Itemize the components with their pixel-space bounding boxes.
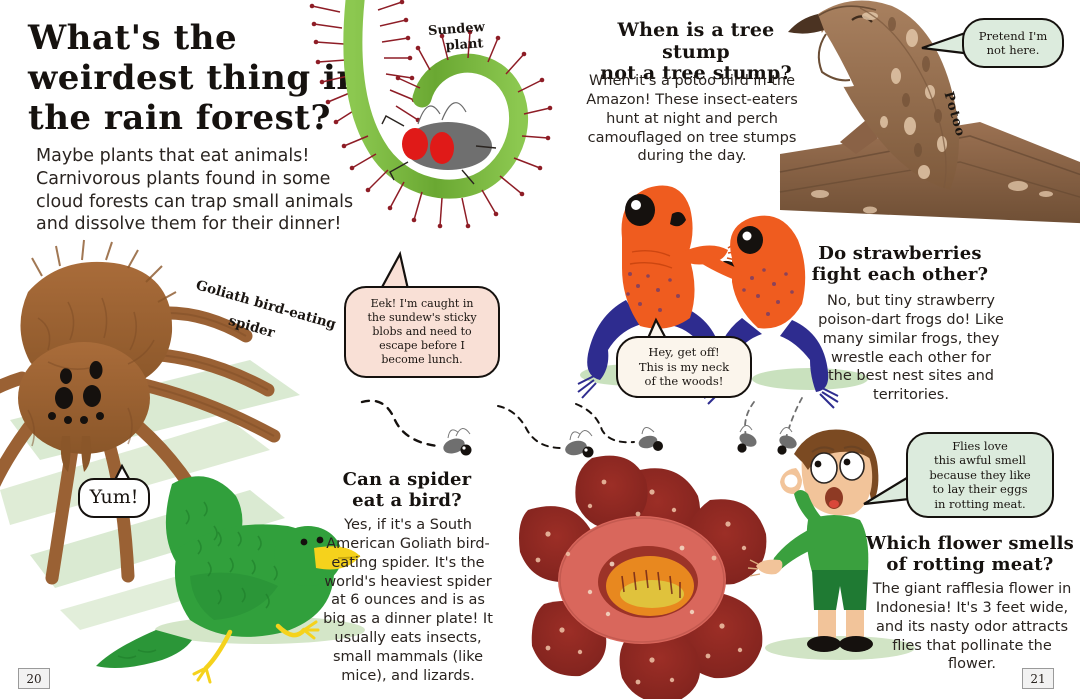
boy-bubble-line1: Flies love <box>929 439 1030 453</box>
fly-bubble-line1: Eek! I'm caught in <box>367 297 476 311</box>
page-number-left: 20 <box>18 668 50 689</box>
frog-speech-bubble: Hey, get off! This is my neck of the woo… <box>616 336 752 398</box>
strawberries-heading-line1: Do strawberries <box>800 244 1000 265</box>
book-spread: What's the weirdest thing in the rain fo… <box>0 0 1080 699</box>
potoo-bubble-line2: not here. <box>979 43 1048 57</box>
tree-stump-heading-line1: When is a tree stump <box>596 20 796 63</box>
rotting-flower-heading: Which flower smells of rotting meat? <box>866 534 1074 575</box>
boy-bubble-line4: to lay their eggs <box>929 482 1030 496</box>
tree-stump-body: When it's a potoo bird in the Amazon! Th… <box>576 72 808 166</box>
boy-bubble-line2: this awful smell <box>929 453 1030 467</box>
fly-icon <box>637 427 663 451</box>
spider-bird-body: Yes, if it's a South American Goliath bi… <box>318 516 498 686</box>
goliath-spider-label: Goliath bird-eating spider <box>196 276 356 321</box>
page-number-right: 21 <box>1022 668 1054 689</box>
strawberries-heading-line2: fight each other? <box>800 265 1000 286</box>
fly-bubble-line2: the sundew's sticky <box>367 311 476 325</box>
boy-speech-bubble: Flies love this awful smell because they… <box>906 432 1054 518</box>
potoo-bubble-line1: Pretend I'm <box>979 29 1048 43</box>
boy-bubble-line5: in rotting meat. <box>929 497 1030 511</box>
rotting-flower-heading-line1: Which flower smells <box>866 534 1074 555</box>
rotting-flower-heading-line2: of rotting meat? <box>866 555 1074 576</box>
fly-bubble-line3: blobs and need to <box>367 325 476 339</box>
frog-bubble-line1: Hey, get off! <box>639 345 729 359</box>
sundew-plant-label: Sundew plant <box>411 19 503 56</box>
frog-bubble-line2: This is my neck <box>639 360 729 374</box>
rotting-flower-body: The giant rafflesia flower in Indonesia!… <box>872 580 1072 674</box>
fly-bubble-line4: escape before I <box>367 339 476 353</box>
frog-bubble-line3: of the woods! <box>639 374 729 388</box>
fly-icon <box>737 425 758 452</box>
strawberries-heading: Do strawberries fight each other? <box>800 244 1000 285</box>
boy-bubble-line3: because they like <box>929 468 1030 482</box>
potoo-speech-bubble: Pretend I'm not here. <box>962 18 1064 68</box>
strawberries-body: No, but tiny strawberry poison-dart frog… <box>818 292 1004 405</box>
rafflesia-flower-illustration <box>482 452 782 699</box>
spider-bird-heading-line2: eat a bird? <box>322 491 492 512</box>
fly-icon <box>441 428 471 456</box>
